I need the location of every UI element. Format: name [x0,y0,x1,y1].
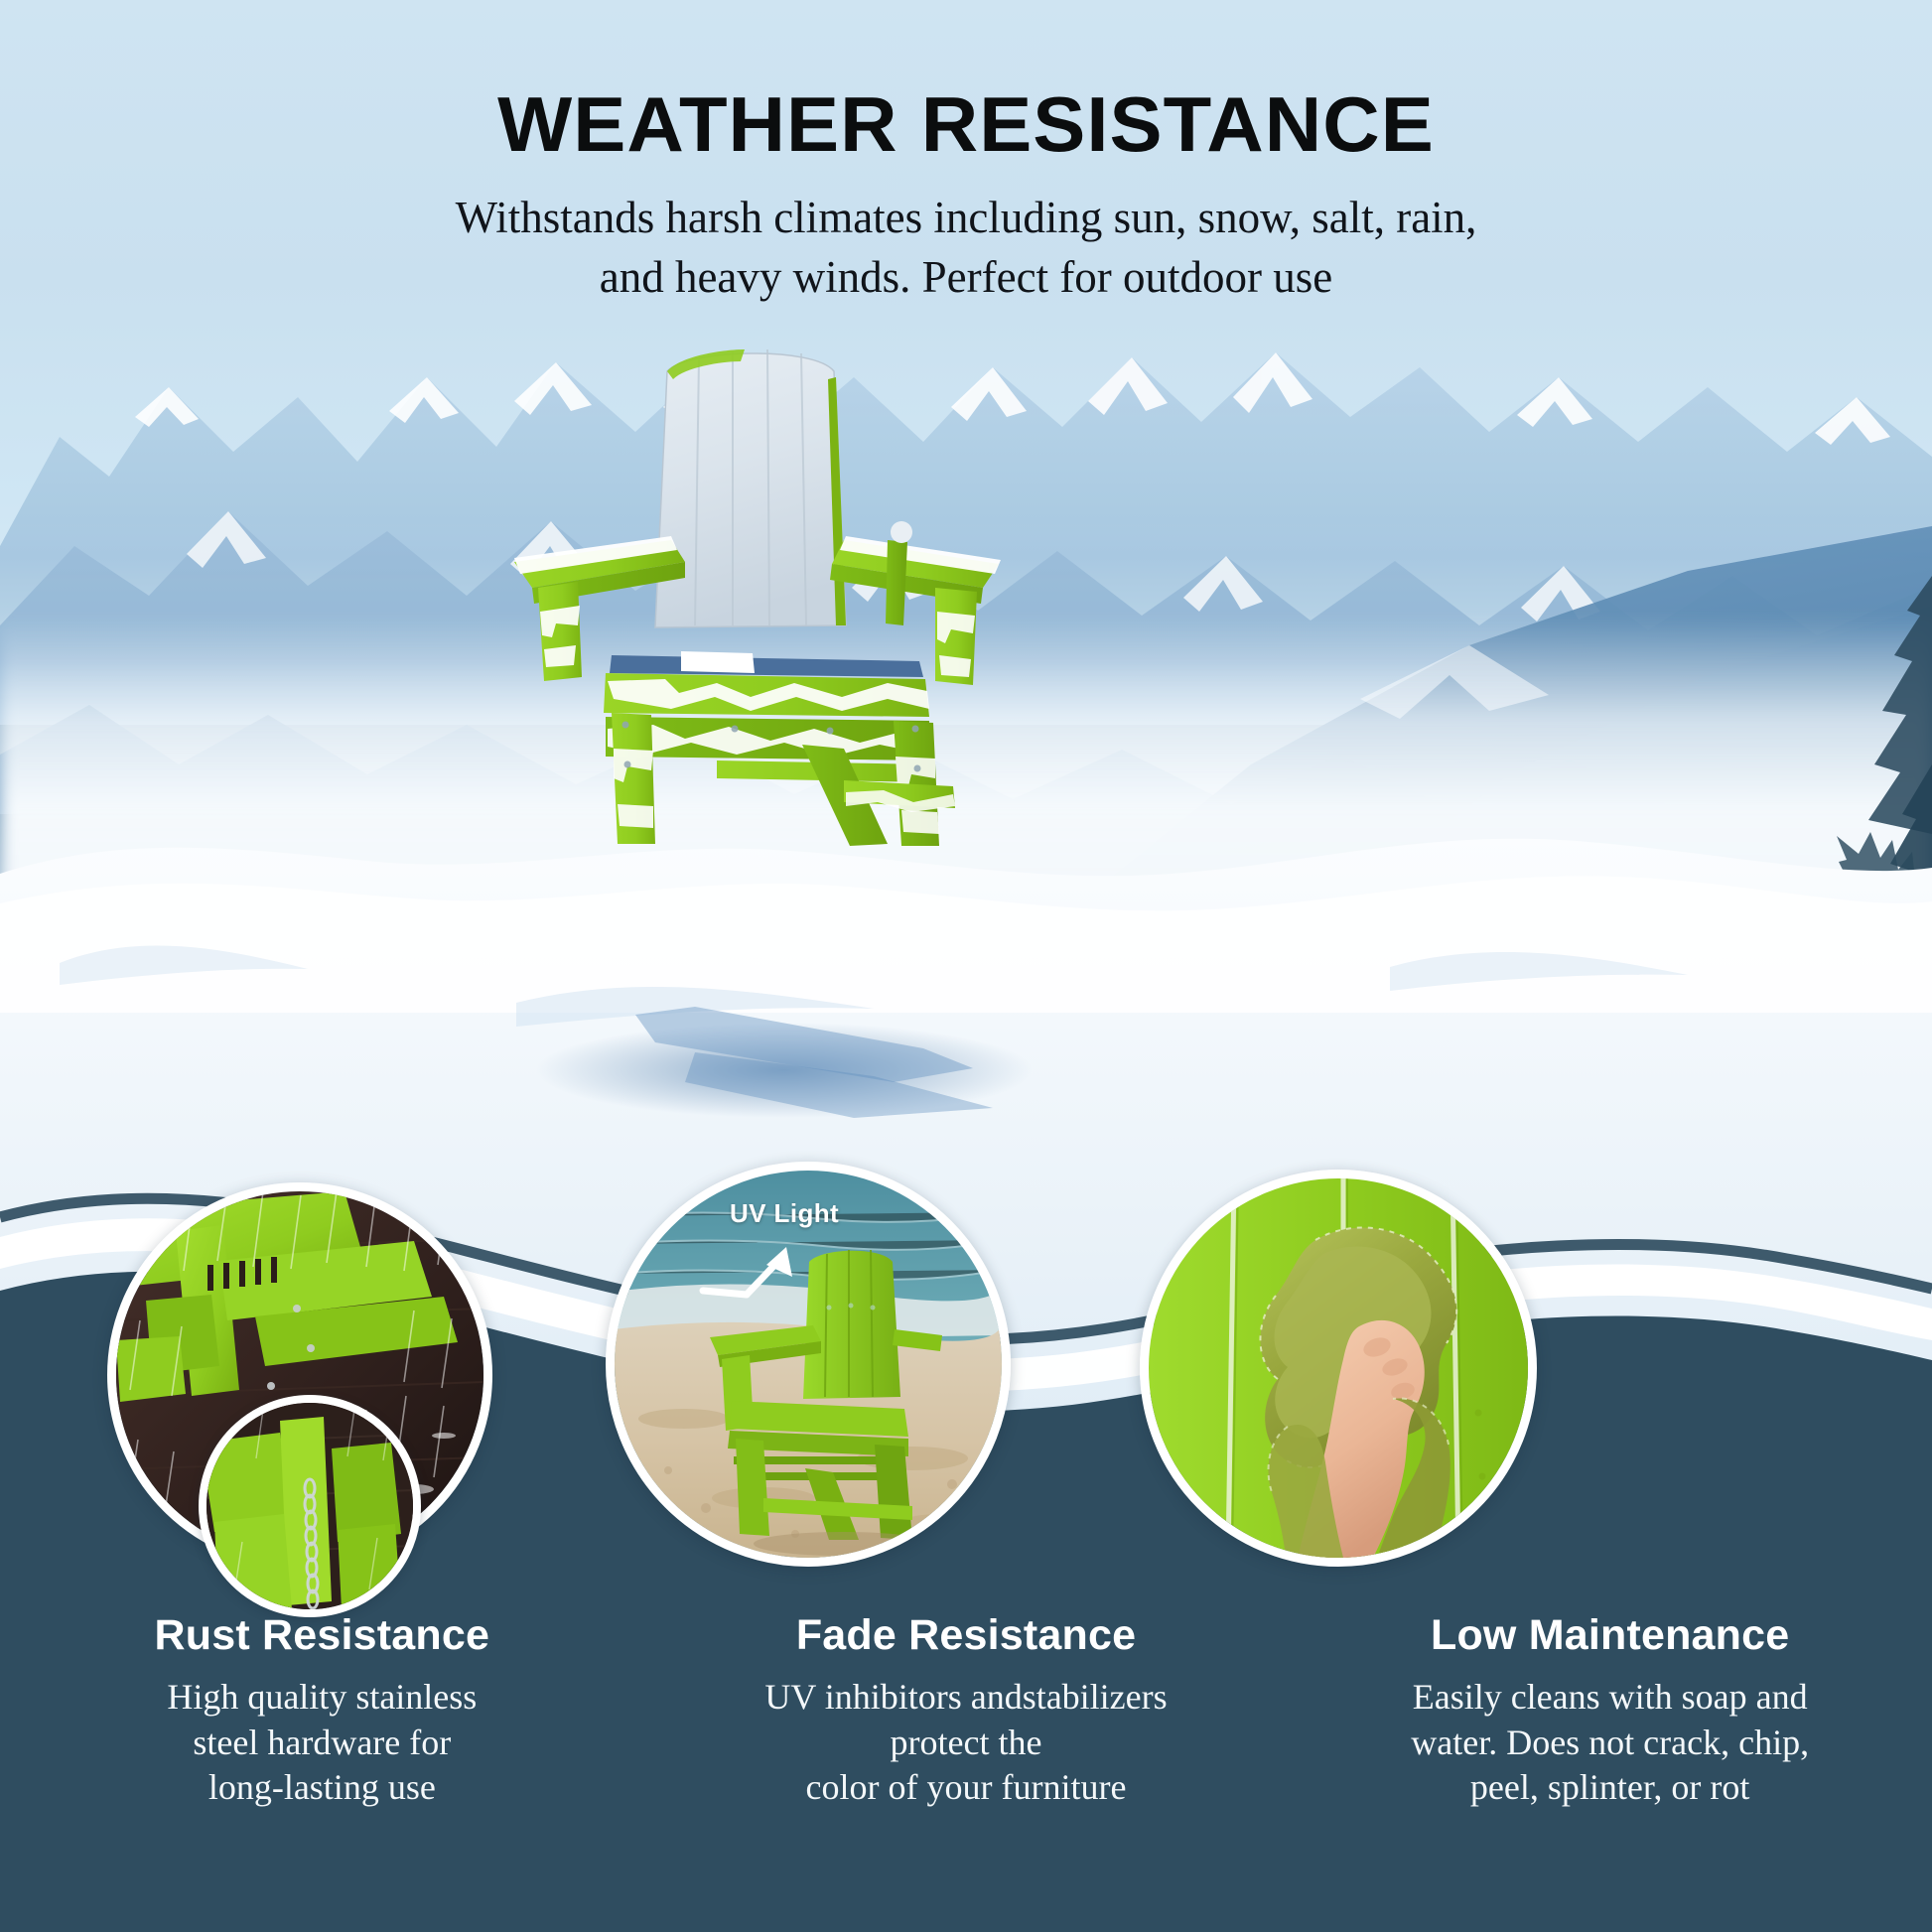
feature-rust-resistance: Rust Resistance High quality stainless s… [0,1612,644,1930]
weather-resistance-infographic: WEATHER RESISTANCE Withstands harsh clim… [0,0,1932,1932]
subtitle-line-1: Withstands harsh climates including sun,… [380,189,1552,248]
thumbnail-low-maintenance[interactable] [1140,1170,1537,1567]
feature-title-fade-resistance: Fade Resistance [662,1612,1271,1659]
page-title: WEATHER RESISTANCE [0,0,1932,163]
subtitle-line-2: and heavy winds. Perfect for outdoor use [380,248,1552,308]
feature-desc-line-3: long-lasting use [103,1765,540,1810]
uv-light-label: UV Light [730,1198,839,1229]
feature-desc-line-1: High quality stainless [103,1675,540,1720]
feature-desc-fade-resistance: UV inhibitors andstabilizers protect the… [748,1675,1184,1810]
stainless-chain-detail-image [207,1403,413,1609]
feature-desc-line-3: color of your furniture [748,1765,1184,1810]
feature-desc-line-2: protect the [748,1721,1184,1765]
header-block: WEATHER RESISTANCE Withstands harsh clim… [0,0,1932,308]
feature-fade-resistance: Fade Resistance UV inhibitors andstabili… [644,1612,1289,1930]
feature-desc-line-2: steel hardware for [103,1721,540,1765]
feature-captions: Rust Resistance High quality stainless s… [0,1612,1932,1930]
feature-desc-line-2: water. Does not crack, chip, [1392,1721,1829,1765]
thumbnail-rust-resistance-inset[interactable] [199,1395,421,1617]
feature-desc-line-3: peel, splinter, or rot [1392,1765,1829,1810]
page-subtitle: Withstands harsh climates including sun,… [380,189,1552,308]
feature-title-low-maintenance: Low Maintenance [1306,1612,1914,1659]
feature-desc-line-1: Easily cleans with soap and [1392,1675,1829,1720]
feature-low-maintenance: Low Maintenance Easily cleans with soap … [1288,1612,1932,1930]
hand-wiping-cloth-image [1149,1178,1528,1558]
feature-desc-rust-resistance: High quality stainless steel hardware fo… [103,1675,540,1810]
feature-desc-low-maintenance: Easily cleans with soap and water. Does … [1392,1675,1829,1810]
feature-title-rust-resistance: Rust Resistance [18,1612,626,1659]
feature-desc-line-1: UV inhibitors andstabilizers [748,1675,1184,1720]
uv-light-arrow-icon [695,1229,814,1318]
